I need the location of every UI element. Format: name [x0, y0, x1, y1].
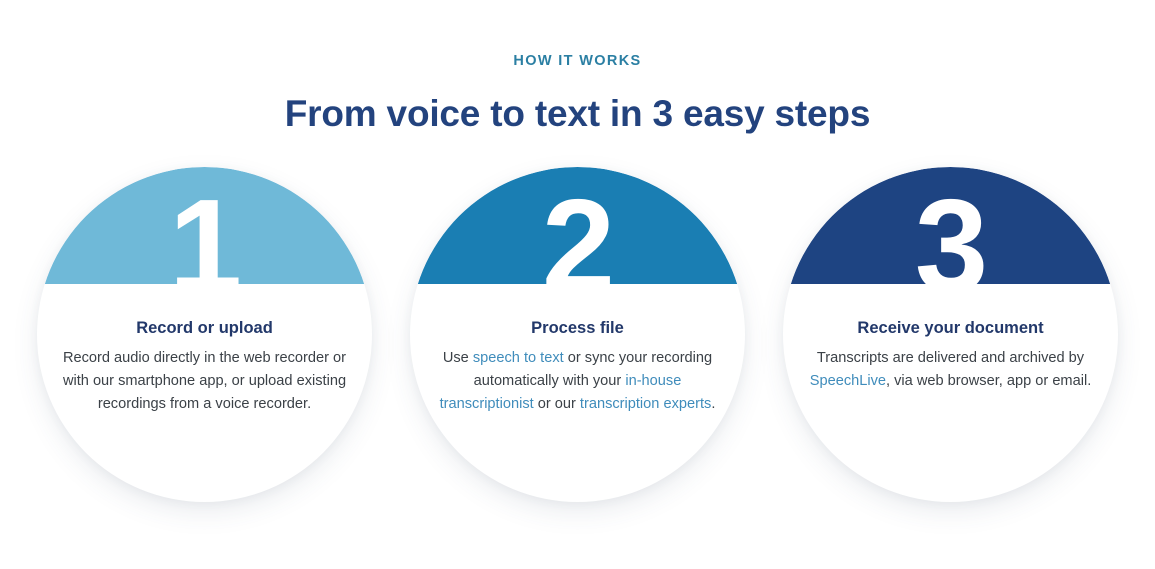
step-2-description: Use speech to text or sync your recordin… [439, 347, 717, 416]
page-title: From voice to text in 3 easy steps [0, 90, 1155, 138]
step-2-title: Process file [428, 317, 727, 339]
step-card-1: 1 Record or upload Record audio directly… [37, 167, 372, 502]
step-2-number: 2 [410, 167, 745, 307]
step-1-title: Record or upload [55, 317, 354, 339]
inline-link[interactable]: speech to text [473, 350, 564, 366]
step-1-number: 1 [37, 167, 372, 307]
step-3-description: Transcripts are delivered and archived b… [808, 347, 1093, 393]
steps-list: 1 Record or upload Record audio directly… [37, 167, 1118, 503]
step-card-3: 3 Receive your document Transcripts are … [783, 167, 1118, 502]
step-1-body: Record or upload Record audio directly i… [55, 317, 354, 416]
section-eyebrow: HOW IT WORKS [0, 51, 1155, 71]
inline-link[interactable]: SpeechLive [810, 373, 886, 389]
how-it-works-section: HOW IT WORKS From voice to text in 3 eas… [0, 0, 1155, 569]
step-1-description: Record audio directly in the web recorde… [62, 347, 347, 416]
step-3-number: 3 [783, 167, 1118, 307]
inline-link[interactable]: transcription experts [580, 396, 711, 412]
step-3-title: Receive your document [801, 317, 1100, 339]
step-card-2: 2 Process file Use speech to text or syn… [410, 167, 745, 502]
step-3-body: Receive your document Transcripts are de… [801, 317, 1100, 393]
step-2-body: Process file Use speech to text or sync … [428, 317, 727, 416]
